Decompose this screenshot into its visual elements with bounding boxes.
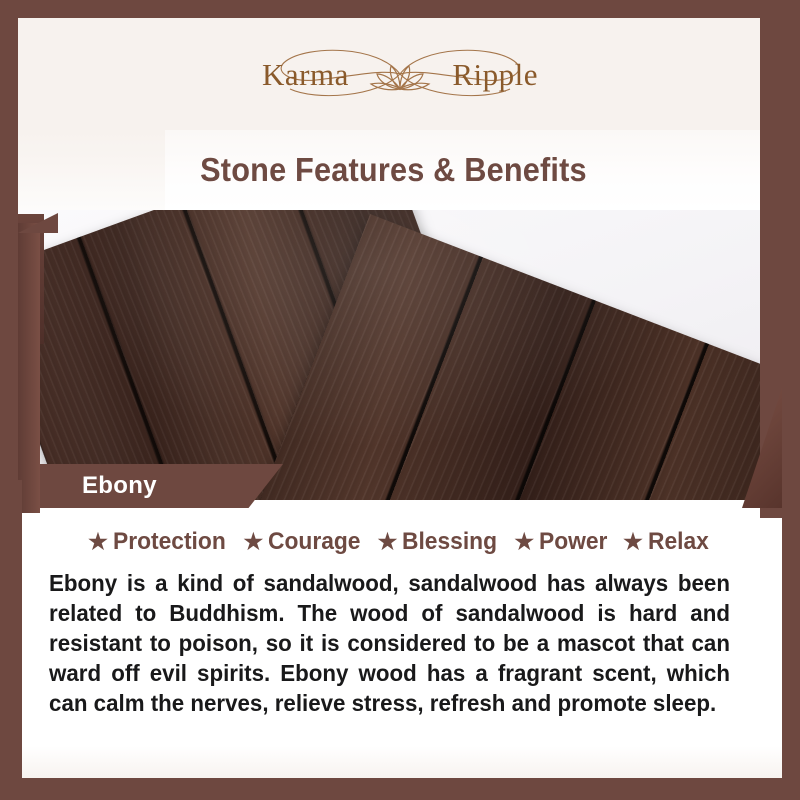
content-panel: ★ Protection ★ Courage ★ Blessing ★ Powe…	[18, 500, 782, 782]
benefit-item: ★ Blessing	[378, 528, 503, 556]
frame-band-bottom-left	[0, 480, 22, 800]
product-photo	[18, 210, 782, 500]
page-title: Stone Features & Benefits	[45, 130, 756, 210]
star-icon: ★	[514, 529, 534, 555]
poster-root: Karma Ripple Stone Features & Benefits E…	[0, 0, 800, 800]
brand-word-karma: Karma	[262, 59, 349, 90]
benefit-label: Blessing	[402, 528, 497, 556]
brand-header: Karma Ripple	[18, 18, 782, 130]
star-icon: ★	[88, 529, 108, 555]
benefit-label: Courage	[268, 528, 360, 556]
frame-band-left	[18, 223, 40, 513]
benefit-label: Relax	[648, 528, 709, 556]
brand-wordmark: Karma Ripple	[250, 39, 550, 109]
star-icon: ★	[378, 529, 398, 555]
benefits-list: ★ Protection ★ Courage ★ Blessing ★ Powe…	[18, 500, 782, 562]
star-icon: ★	[244, 529, 264, 555]
brand-logo: Karma Ripple	[250, 39, 550, 109]
title-band: Stone Features & Benefits	[18, 130, 782, 210]
benefit-item: ★ Relax	[623, 528, 712, 556]
brand-word-ripple: Ripple	[452, 59, 538, 90]
description-text: Ebony is a kind of sandalwood, sandalwoo…	[18, 562, 759, 718]
poster-card: Karma Ripple Stone Features & Benefits E…	[18, 18, 782, 782]
benefit-item: ★ Protection	[88, 528, 231, 556]
stone-name-label: Ebony	[82, 472, 157, 500]
benefit-label: Power	[539, 528, 607, 556]
stone-name-banner: Ebony	[18, 464, 283, 508]
star-icon: ★	[623, 529, 643, 555]
content-bottom-fade	[18, 746, 782, 782]
benefit-label: Protection	[113, 528, 226, 556]
benefit-item: ★ Power	[514, 528, 611, 556]
frame-band-bottom	[0, 778, 800, 800]
benefit-item: ★ Courage	[244, 528, 366, 556]
